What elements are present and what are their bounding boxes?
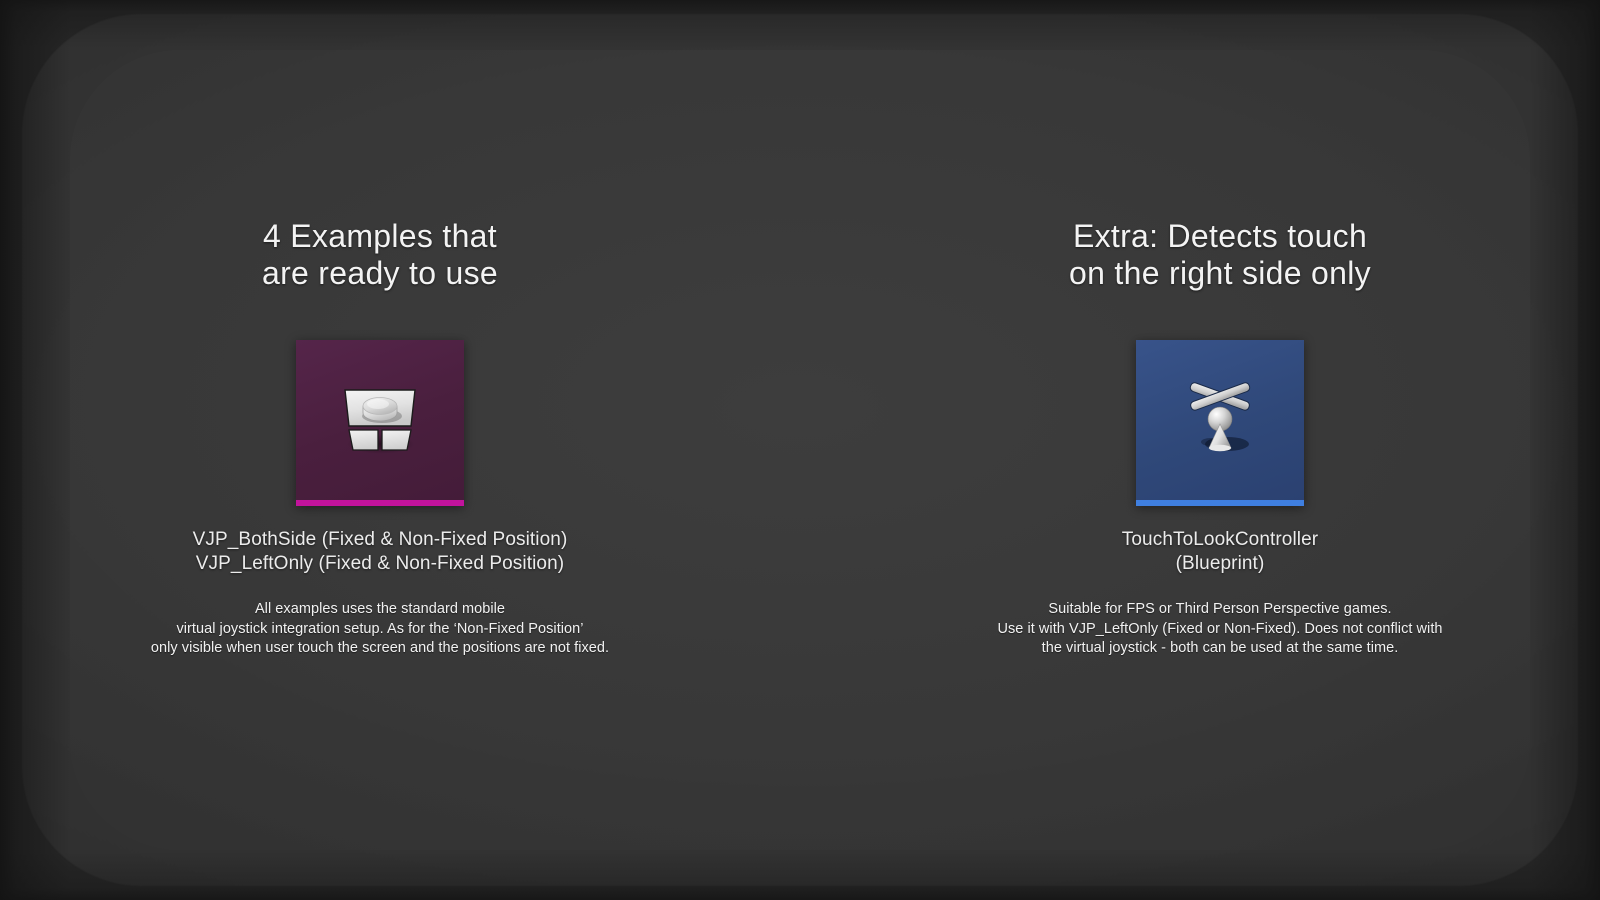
- thumbnail-vjp-examples[interactable]: [296, 340, 464, 506]
- thumbnail-image-blueprint: [1136, 340, 1304, 500]
- slide-canvas: 4 Examples that are ready to use: [0, 0, 1600, 900]
- caption-touchtolook: TouchToLookController (Blueprint): [1122, 528, 1318, 576]
- column-heading-extra: Extra: Detects touch on the right side o…: [1069, 218, 1371, 292]
- thumbnail-accent-bar-magenta: [296, 500, 464, 506]
- caption-vjp-examples: VJP_BothSide (Fixed & Non-Fixed Position…: [193, 528, 568, 576]
- thumbnail-touchtolook[interactable]: [1136, 340, 1304, 506]
- thumbnail-accent-bar-blue: [1136, 500, 1304, 506]
- columns-container: 4 Examples that are ready to use: [0, 0, 1600, 900]
- blueprint-actor-icon: [1181, 380, 1259, 460]
- description-touchtolook: Suitable for FPS or Third Person Perspec…: [997, 600, 1442, 659]
- thumbnail-image-vjp: [296, 340, 464, 500]
- column-examples: 4 Examples that are ready to use: [100, 218, 660, 659]
- column-heading-examples: 4 Examples that are ready to use: [262, 218, 498, 292]
- description-vjp-examples: All examples uses the standard mobile vi…: [151, 600, 609, 659]
- column-extra: Extra: Detects touch on the right side o…: [940, 218, 1500, 659]
- touchpad-joystick-icon: [337, 382, 423, 458]
